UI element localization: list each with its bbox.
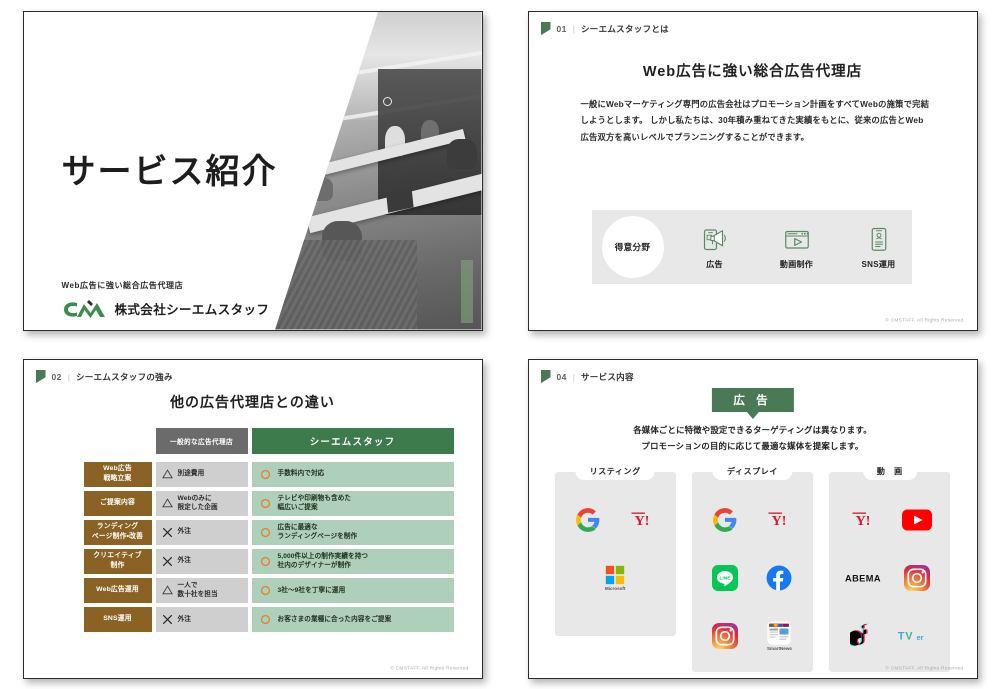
media-logo-panel: Y!ABEMATVer bbox=[829, 472, 950, 672]
slide-2-about[interactable]: 01 | シーエムスタッフとは Web広告に強い総合広告代理店 一般にWebマー… bbox=[528, 11, 978, 331]
google-logo[interactable] bbox=[703, 498, 747, 542]
media-column-tab: ディスプレイ bbox=[713, 463, 792, 480]
cell-generic: 外注 bbox=[156, 607, 248, 632]
circle-mark-icon bbox=[260, 556, 271, 567]
table-body: Web広告 戦略立案別途費用手数料内で対応ご提案内容Webのみに 限定した企画テ… bbox=[84, 458, 454, 632]
column-header-generic: 一般的な広告代理店 bbox=[156, 428, 248, 454]
header-separator: | bbox=[573, 24, 575, 34]
instagram-logo[interactable] bbox=[703, 614, 747, 658]
header-separator: | bbox=[68, 372, 70, 382]
specialty-panel: 得意分野 広告 bbox=[592, 210, 912, 284]
media-logo-panel: Y!LINESmartNews bbox=[692, 472, 813, 672]
cell-cmstaff-text: 手数料内で対応 bbox=[278, 469, 325, 479]
row-label: Web広告運用 bbox=[84, 578, 152, 603]
svg-text:Y!: Y! bbox=[772, 514, 787, 529]
svg-text:Y!: Y! bbox=[635, 514, 650, 529]
svg-text:LINE: LINE bbox=[720, 575, 732, 581]
column-header-cmstaff: シーエムスタッフ bbox=[252, 428, 454, 454]
media-column: リスティングY!Microsoft bbox=[555, 472, 676, 672]
yahoo-logo[interactable]: Y! bbox=[841, 498, 885, 542]
lead-line-1: 各媒体ごとに特徴や設定できるターゲティングは異なります。 bbox=[529, 422, 977, 439]
microsoft-logo[interactable]: Microsoft bbox=[593, 556, 637, 600]
specialty-label: 広告 bbox=[706, 259, 723, 270]
table-row: ご提案内容Webのみに 限定した企画テレビや印刷物も含めた 幅広いご提案 bbox=[84, 491, 454, 516]
cell-generic: Webのみに 限定した企画 bbox=[156, 491, 248, 516]
cell-generic-text: 別途費用 bbox=[178, 469, 205, 479]
section-lead: 各媒体ごとに特徴や設定できるターゲティングは異なります。 プロモーションの目的に… bbox=[529, 422, 977, 456]
cross-mark-icon bbox=[162, 556, 173, 567]
cell-cmstaff-text: 広告に最適な ランディングページを制作 bbox=[278, 523, 358, 542]
triangle-mark-icon bbox=[162, 585, 173, 595]
row-label: クリエイティブ 制作 bbox=[84, 549, 152, 574]
circle-mark-icon bbox=[260, 498, 271, 509]
sns-profile-phone-icon bbox=[864, 224, 894, 254]
youtube-logo[interactable] bbox=[895, 498, 939, 542]
lead-line-2: プロモーションの目的に応じて最適な媒体を提案します。 bbox=[529, 438, 977, 455]
section-badge: 広 告 bbox=[711, 388, 793, 412]
table-corner-cell bbox=[84, 428, 152, 454]
cell-cmstaff: お客さまの業種に合った内容をご提案 bbox=[252, 607, 454, 632]
cover-tagline: Web広告に強い総合広告代理店 bbox=[62, 280, 184, 291]
slide-3-strengths[interactable]: 02 | シーエムスタッフの強み 他の広告代理店との違い 一般的な広告代理店 シ… bbox=[23, 359, 483, 679]
section-heading: Web広告に強い総合広告代理店 bbox=[529, 60, 977, 81]
media-column: ディスプレイY!LINESmartNews bbox=[692, 472, 813, 672]
company-name: 株式会社シーエムスタッフ bbox=[115, 299, 270, 318]
slide-header: 01 | シーエムスタッフとは bbox=[541, 22, 670, 36]
cell-cmstaff-text: 3社〜9社を丁寧に運用 bbox=[278, 586, 346, 596]
yahoo-logo[interactable]: Y! bbox=[620, 498, 664, 542]
slide-header: 02 | シーエムスタッフの強み bbox=[36, 370, 173, 384]
triangle-mark-icon bbox=[162, 498, 173, 508]
circle-mark-icon bbox=[260, 527, 271, 538]
slide-deck: サービス紹介 Web広告に強い総合広告代理店 株式会社シーエムスタッフ 01 |… bbox=[0, 0, 1000, 689]
cell-generic: 別途費用 bbox=[156, 462, 248, 487]
cell-cmstaff: 手数料内で対応 bbox=[252, 462, 454, 487]
svg-text:T: T bbox=[898, 630, 905, 642]
slide-nav-title: サービス内容 bbox=[581, 371, 634, 383]
smartnews-logo[interactable]: SmartNews bbox=[757, 614, 801, 658]
media-logo-panel: Y!Microsoft bbox=[555, 472, 676, 636]
cell-cmstaff: 広告に最適な ランディングページを制作 bbox=[252, 520, 454, 545]
logo-caption: Microsoft bbox=[605, 586, 626, 591]
media-columns: リスティングY!MicrosoftディスプレイY!LINESmartNews動 … bbox=[555, 472, 951, 672]
instagram-logo[interactable] bbox=[895, 556, 939, 600]
slide-nav-title: シーエムスタッフの強み bbox=[76, 371, 173, 383]
circle-mark-icon bbox=[260, 614, 271, 625]
cell-cmstaff-text: 5,000件以上の制作実績を持つ 社内のデザイナーが制作 bbox=[278, 552, 369, 571]
cell-cmstaff: 5,000件以上の制作実績を持つ 社内のデザイナーが制作 bbox=[252, 549, 454, 574]
copyright-text: © CMSTAFF. All Rights Reserved. bbox=[885, 317, 965, 322]
table-row: Web広告運用一人で 数十社を担当3社〜9社を丁寧に運用 bbox=[84, 578, 454, 603]
table-row: クリエイティブ 制作外注5,000件以上の制作実績を持つ 社内のデザイナーが制作 bbox=[84, 549, 454, 574]
logo-caption: SmartNews bbox=[767, 646, 792, 651]
cell-cmstaff-text: テレビや印刷物も含めた 幅広いご提案 bbox=[278, 494, 352, 513]
yahoo-logo[interactable]: Y! bbox=[757, 498, 801, 542]
table-row: ランディング ページ制作・改善外注広告に最適な ランディングページを制作 bbox=[84, 520, 454, 545]
svg-text:V: V bbox=[905, 630, 913, 642]
copyright-text: © CMSTAFF. All Rights Reserved. bbox=[885, 665, 965, 670]
table-header-row: 一般的な広告代理店 シーエムスタッフ bbox=[84, 428, 454, 454]
facebook-logo[interactable] bbox=[757, 556, 801, 600]
section-body: 一般にWebマーケティング専門の広告会社はプロモーション計画をすべてWebの施策… bbox=[581, 96, 931, 146]
cell-generic-text: 外注 bbox=[178, 615, 191, 625]
circle-mark-icon bbox=[260, 469, 271, 480]
specialty-items: 広告 動画制作 bbox=[686, 224, 908, 270]
cell-generic-text: 一人で 数十社を担当 bbox=[178, 581, 218, 600]
svg-text:Y!: Y! bbox=[855, 514, 870, 529]
row-label: ご提案内容 bbox=[84, 491, 152, 516]
cross-mark-icon bbox=[162, 614, 173, 625]
cell-cmstaff: テレビや印刷物も含めた 幅広いご提案 bbox=[252, 491, 454, 516]
specialty-bubble: 得意分野 bbox=[602, 216, 664, 278]
media-column-tab: リスティング bbox=[576, 463, 655, 480]
cm-logo-icon bbox=[62, 298, 108, 320]
cell-generic: 一人で 数十社を担当 bbox=[156, 578, 248, 603]
table-row: SNS運用外注お客さまの業種に合った内容をご提案 bbox=[84, 607, 454, 632]
slide-nav-title: シーエムスタッフとは bbox=[581, 23, 669, 35]
cell-generic-text: 外注 bbox=[178, 556, 191, 566]
svg-text:er: er bbox=[916, 633, 923, 642]
cell-generic-text: 外注 bbox=[178, 527, 191, 537]
abema-logo[interactable]: ABEMA bbox=[841, 556, 885, 600]
media-column-tab: 動 画 bbox=[863, 463, 917, 480]
specialty-item-sns[interactable]: SNS運用 bbox=[850, 224, 908, 270]
tver-logo[interactable]: TVer bbox=[895, 614, 939, 658]
flag-icon bbox=[36, 370, 46, 384]
svg-text:ABEMA: ABEMA bbox=[845, 573, 881, 583]
cell-cmstaff-text: お客さまの業種に合った内容をご提案 bbox=[278, 615, 392, 625]
specialty-item-video[interactable]: 動画制作 bbox=[768, 224, 826, 270]
flag-icon bbox=[541, 370, 551, 384]
row-label: Web広告 戦略立案 bbox=[84, 462, 152, 487]
circle-mark-icon bbox=[260, 585, 271, 596]
flag-icon bbox=[541, 22, 551, 36]
specialty-label: SNS運用 bbox=[862, 259, 896, 270]
section-heading: 他の広告代理店との違い bbox=[24, 392, 482, 412]
copyright-text: © CMSTAFF. All Rights Reserved. bbox=[390, 665, 470, 670]
specialty-item-ad[interactable]: 広告 bbox=[686, 224, 744, 270]
slide-1-cover[interactable]: サービス紹介 Web広告に強い総合広告代理店 株式会社シーエムスタッフ bbox=[23, 11, 483, 331]
row-label: ランディング ページ制作・改善 bbox=[84, 520, 152, 545]
slide-header: 04 | サービス内容 bbox=[541, 370, 634, 384]
comparison-table: 一般的な広告代理店 シーエムスタッフ Web広告 戦略立案別途費用手数料内で対応… bbox=[84, 428, 454, 632]
google-logo[interactable] bbox=[566, 498, 610, 542]
specialty-label: 動画制作 bbox=[780, 259, 813, 270]
cross-mark-icon bbox=[162, 527, 173, 538]
cell-generic: 外注 bbox=[156, 549, 248, 574]
slide-number: 04 bbox=[557, 372, 567, 382]
office-photo bbox=[267, 12, 482, 330]
megaphone-smartphone-icon bbox=[700, 224, 730, 254]
page-title: サービス紹介 bbox=[62, 144, 278, 193]
row-label: SNS運用 bbox=[84, 607, 152, 632]
triangle-mark-icon bbox=[162, 469, 173, 479]
slide-4-services[interactable]: 04 | サービス内容 広 告 各媒体ごとに特徴や設定できるターゲティングは異な… bbox=[528, 359, 978, 679]
slide-number: 01 bbox=[557, 24, 567, 34]
header-separator: | bbox=[573, 372, 575, 382]
cell-generic: 外注 bbox=[156, 520, 248, 545]
tiktok-logo[interactable] bbox=[841, 614, 885, 658]
line-logo[interactable]: LINE bbox=[703, 556, 747, 600]
slide-number: 02 bbox=[52, 372, 62, 382]
table-row: Web広告 戦略立案別途費用手数料内で対応 bbox=[84, 462, 454, 487]
cell-generic-text: Webのみに 限定した企画 bbox=[178, 494, 218, 513]
media-column: 動 画Y!ABEMATVer bbox=[829, 472, 950, 672]
video-player-window-icon bbox=[782, 224, 812, 254]
brand-logo-row: 株式会社シーエムスタッフ bbox=[62, 298, 270, 320]
cell-cmstaff: 3社〜9社を丁寧に運用 bbox=[252, 578, 454, 603]
